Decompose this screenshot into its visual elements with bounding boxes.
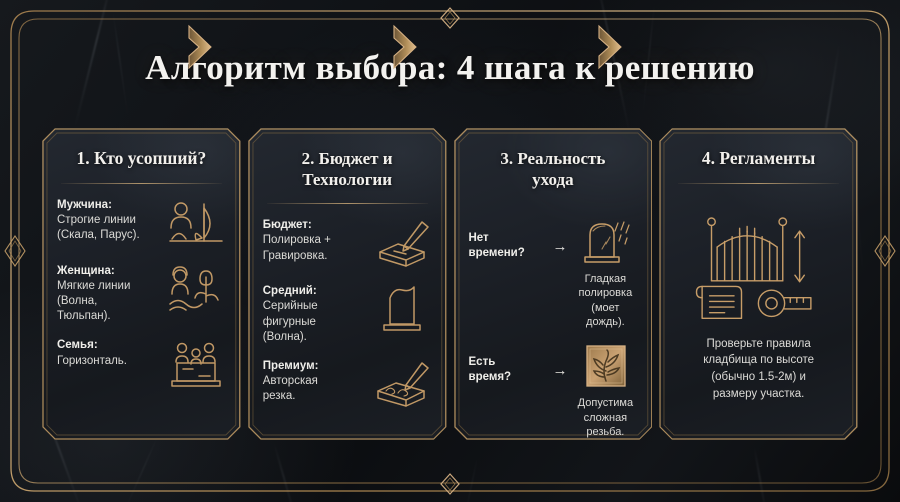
card-title-2: 2. Бюджет и Технологии — [263, 148, 432, 190]
card-divider — [61, 183, 222, 184]
option-text: Семья: Горизонталь. — [57, 338, 160, 368]
card-title-line: ухода — [532, 170, 573, 189]
option-label: Бюджет: — [263, 218, 366, 233]
marble-vein — [273, 441, 300, 502]
option-desc-line: фигурные — [263, 315, 366, 330]
care-caption-line: резьба. — [586, 426, 624, 438]
option-desc-line: Тюльпан). — [57, 309, 160, 324]
measuring-tape-icon — [759, 290, 812, 316]
care-caption-line: (моет дождь). — [586, 302, 625, 328]
arrow-right-icon: → — [553, 217, 568, 254]
option-desc-line: Строгие линии — [57, 213, 160, 228]
care-question: Нет времени? — [469, 217, 547, 261]
option-label: Семья: — [57, 338, 160, 353]
care-caption: Допустима сложная резьба. — [574, 396, 638, 439]
care-question-line: времени? — [469, 247, 525, 259]
woman-tulip-wave-icon — [166, 264, 226, 316]
option-row: Премиум: Авторская резка. — [263, 359, 432, 411]
shaped-headstone-icon — [372, 284, 432, 336]
card-body-3: Нет времени? → — [469, 217, 638, 451]
regulations-text-line: кладбища по высоте — [703, 354, 814, 366]
care-option-block: Есть время? → — [469, 341, 638, 439]
steps-row: 1. Кто усопший? Мужчина: Строгие линии (… — [42, 128, 858, 440]
regulations-text-line: размеру участка. — [713, 388, 804, 400]
marble-vein — [753, 445, 769, 502]
man-sailboat-icon — [166, 198, 226, 250]
card-title-3: 3. Реальность ухода — [469, 148, 638, 190]
care-question-line: время? — [469, 371, 512, 383]
care-question-line: Есть — [469, 356, 496, 368]
regulations-text-line: (обычно 1.5-2м) и — [711, 371, 806, 383]
care-caption-line: сложная — [584, 412, 628, 424]
card-title-4: 4. Регламенты — [674, 148, 843, 170]
step-card-4[interactable]: 4. Регламенты — [659, 128, 858, 440]
step-card-1[interactable]: 1. Кто усопший? Мужчина: Строгие линии (… — [42, 128, 241, 440]
care-option-block: Нет времени? → — [469, 217, 638, 329]
regulations-illustration — [674, 202, 843, 324]
option-desc-line: (Скала, Парус). — [57, 228, 160, 243]
care-caption: Гладкая полировка (моет дождь). — [574, 272, 638, 329]
card-title-line: 3. Реальность — [500, 149, 605, 168]
option-desc-line: Мягкие линии — [57, 279, 160, 294]
card-body-2: Бюджет: Полировка + Гравировка. — [263, 218, 432, 422]
option-desc-line: Гравировка. — [263, 249, 366, 264]
option-text: Премиум: Авторская резка. — [263, 359, 366, 405]
page-title: Алгоритм выбора: 4 шага к решению — [0, 48, 900, 88]
care-question: Есть время? — [469, 341, 547, 385]
card-title-line: Технологии — [302, 170, 392, 189]
step-card-2[interactable]: 2. Бюджет и Технологии Бюджет: Полировка… — [248, 128, 447, 440]
option-row: Мужчина: Строгие линии (Скала, Парус). — [57, 198, 226, 250]
option-desc-line: Полировка + — [263, 233, 366, 248]
card-divider — [678, 183, 839, 184]
option-row: Средний: Серийные фигурные (Волна). — [263, 284, 432, 345]
option-row: Женщина: Мягкие линии (Волна, Тюльпан). — [57, 264, 226, 325]
option-text: Женщина: Мягкие линии (Волна, Тюльпан). — [57, 264, 160, 325]
option-desc-line: Горизонталь. — [57, 354, 160, 369]
option-label: Средний: — [263, 284, 366, 299]
engraving-tool-icon — [372, 218, 432, 270]
custom-carving-icon — [372, 359, 432, 411]
family-monument-icon — [166, 338, 226, 390]
option-text: Бюджет: Полировка + Гравировка. — [263, 218, 366, 264]
option-desc-line: Авторская — [263, 374, 366, 389]
care-caption-line: Допустима — [578, 397, 633, 409]
care-answer: Гладкая полировка (моет дождь). — [574, 217, 638, 329]
card-body-4: Проверьте правила кладбища по высоте (об… — [674, 198, 843, 422]
cemetery-gate-icon — [708, 218, 787, 281]
care-question-line: Нет — [469, 232, 489, 244]
option-text: Мужчина: Строгие линии (Скала, Парус). — [57, 198, 160, 244]
step-card-3[interactable]: 3. Реальность ухода Нет времени? → — [454, 128, 653, 440]
card-title-1: 1. Кто усопший? — [57, 148, 226, 170]
marble-vein — [122, 434, 160, 502]
option-desc-line: (Волна). — [263, 330, 366, 345]
marble-vein — [463, 456, 479, 502]
slide-canvas: Алгоритм выбора: 4 шага к решению 1. Кто… — [0, 0, 900, 502]
card-divider — [267, 203, 428, 204]
option-desc-line: (Волна, — [57, 294, 160, 309]
height-arrow-icon — [795, 231, 804, 282]
regulations-text: Проверьте правила кладбища по высоте (об… — [674, 336, 843, 403]
option-label: Мужчина: — [57, 198, 160, 213]
option-desc-line: Серийные — [263, 299, 366, 314]
care-caption-line: Гладкая — [585, 273, 626, 285]
option-row: Семья: Горизонталь. — [57, 338, 226, 390]
option-text: Средний: Серийные фигурные (Волна). — [263, 284, 366, 345]
care-answer: Допустима сложная резьба. — [574, 341, 638, 439]
option-label: Премиум: — [263, 359, 366, 374]
ornate-carving-icon — [577, 341, 633, 393]
rain-polished-stone-icon — [577, 217, 633, 269]
option-label: Женщина: — [57, 264, 160, 279]
option-row: Бюджет: Полировка + Гравировка. — [263, 218, 432, 270]
card-body-1: Мужчина: Строгие линии (Скала, Парус). — [57, 198, 226, 422]
card-title-line: 2. Бюджет и — [302, 149, 393, 168]
regulations-text-line: Проверьте правила — [706, 338, 810, 350]
arrow-right-icon: → — [553, 341, 568, 378]
option-desc-line: резка. — [263, 389, 366, 404]
care-caption-line: полировка — [579, 287, 633, 299]
scroll-document-icon — [697, 286, 742, 318]
